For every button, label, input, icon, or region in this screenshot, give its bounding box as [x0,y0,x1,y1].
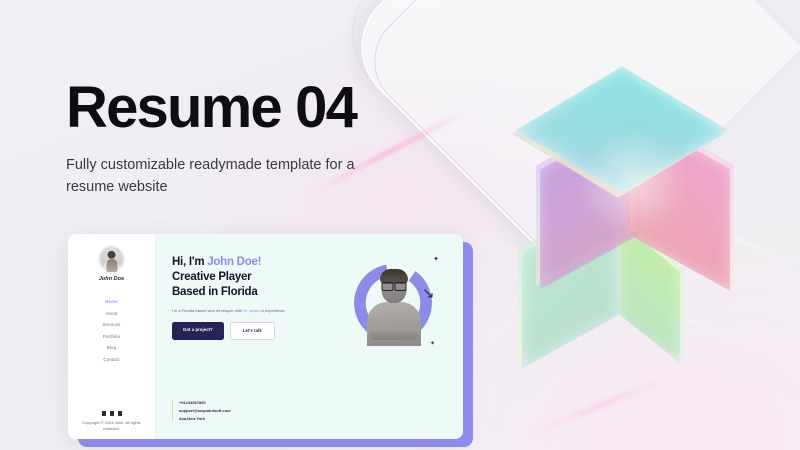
preview-footer: Copyright © 2024 John. All rights reserv… [68,411,155,432]
sidebar-item-home[interactable]: Home [105,299,118,304]
hero-portrait: ✦ ✦ ↘ [346,256,441,351]
cube-inner-glow [578,128,688,238]
social-links[interactable] [68,411,155,416]
preview-hero: Hi, I'm John Doe! Creative Player Based … [156,234,463,439]
sparkle-icon-2: ✦ [430,341,435,347]
hero-headline-line3: Based in Florida [172,286,257,298]
portrait-person [365,268,423,346]
page-subtitle: Fully customizable readymade template fo… [66,154,376,199]
sidebar-item-about[interactable]: About [105,311,117,316]
screenshot-canvas: Resume 04 Fully customizable readymade t… [0,0,800,450]
contact-email[interactable]: support@acquaintsoft.com [179,408,231,413]
twitter-icon[interactable] [110,411,114,416]
hero-headline-line2: Creative Player [172,271,251,283]
hero-desc-highlight: 5+ years [244,308,260,313]
sidebar-item-services[interactable]: Services [102,322,120,327]
page-title: Resume 04 [66,79,356,137]
sidebar-item-portfolio[interactable]: Portfolio [103,334,120,339]
portrait-arms [370,329,418,340]
glasses-icon [381,282,406,289]
preview-sidebar: John Doe Home About Services Portfolio B… [68,234,156,439]
profile-name: John Doe [99,276,124,282]
got-a-project-button[interactable]: Got a project? [172,322,224,340]
sparkle-icon-1: ✦ [433,256,439,263]
lets-talk-button[interactable]: Let's talk [230,322,275,340]
sidebar-item-blog[interactable]: Blog [107,345,116,350]
linkedin-icon[interactable] [118,411,122,416]
sidebar-item-contact[interactable]: Contact [103,357,119,362]
hero-desc-pre: I'm a Florida based web developer with [172,308,244,313]
facebook-icon[interactable] [102,411,106,416]
glass-cube-sculpture [518,58,800,368]
avatar [99,246,124,271]
preview-nav: Home About Services Portfolio Blog Conta… [102,299,120,362]
contact-location: Ava,New York [179,416,231,421]
hero-desc-post: of experience [259,308,285,313]
template-preview-card[interactable]: John Doe Home About Services Portfolio B… [68,234,463,439]
arrow-doodle-icon: ↘ [422,286,444,312]
hero-greeting: Hi, I'm [172,256,207,268]
copyright-text: Copyright © 2024 John. All rights reserv… [68,420,155,432]
contact-phone[interactable]: +01234567890 [179,400,231,405]
hero-name-accent: John Doe! [207,256,261,268]
hero-contact-info: +01234567890 support@acquaintsoft.com Av… [172,400,231,421]
